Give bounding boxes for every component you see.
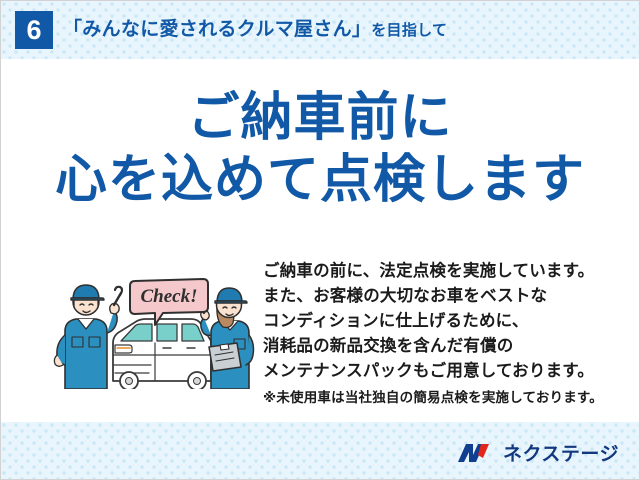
van-shape (113, 319, 211, 389)
body-line-1: ご納車の前に、法定点検を実施しています。 (263, 259, 623, 284)
body-line-2: また、お客様の大切なお車をベストな (263, 284, 623, 309)
headline: ご納車前に 心を込めて点検します (1, 87, 639, 211)
section-number-badge: 6 (15, 11, 53, 49)
body-note: ※未使用車は当社独自の簡易点検を実施しております。 (263, 387, 623, 409)
headline-line-2: 心を込めて点検します (1, 149, 639, 211)
header-title: 「みんなに愛されるクルマ屋さん」を目指して (63, 14, 447, 41)
nextage-logo-mark (456, 441, 496, 465)
nextage-logo-text: ネクステージ (503, 439, 619, 466)
check-bubble-label: Check! (141, 286, 198, 307)
nextage-logo: ネクステージ (456, 439, 619, 466)
header-title-quoted: 「みんなに愛されるクルマ屋さん」 (63, 19, 371, 40)
male-mechanic-figure (54, 285, 122, 389)
promo-panel: 6 「みんなに愛されるクルマ屋さん」を目指して ご納車前に 心を込めて点検します… (0, 0, 640, 480)
body-copy: ご納車の前に、法定点検を実施しています。 また、お客様の大切なお車をベストな コ… (263, 259, 623, 409)
headline-line-1: ご納車前に (1, 87, 639, 149)
mechanics-with-van-illustration: Check! (51, 269, 261, 389)
header-title-suffix: を目指して (371, 22, 447, 39)
body-line-5: メンテナンスパックもご用意しております。 (263, 359, 623, 384)
body-line-4: 消耗品の新品交換を含んだ有償の (263, 334, 623, 359)
body-line-3: コンディションに仕上げるために、 (263, 309, 623, 334)
